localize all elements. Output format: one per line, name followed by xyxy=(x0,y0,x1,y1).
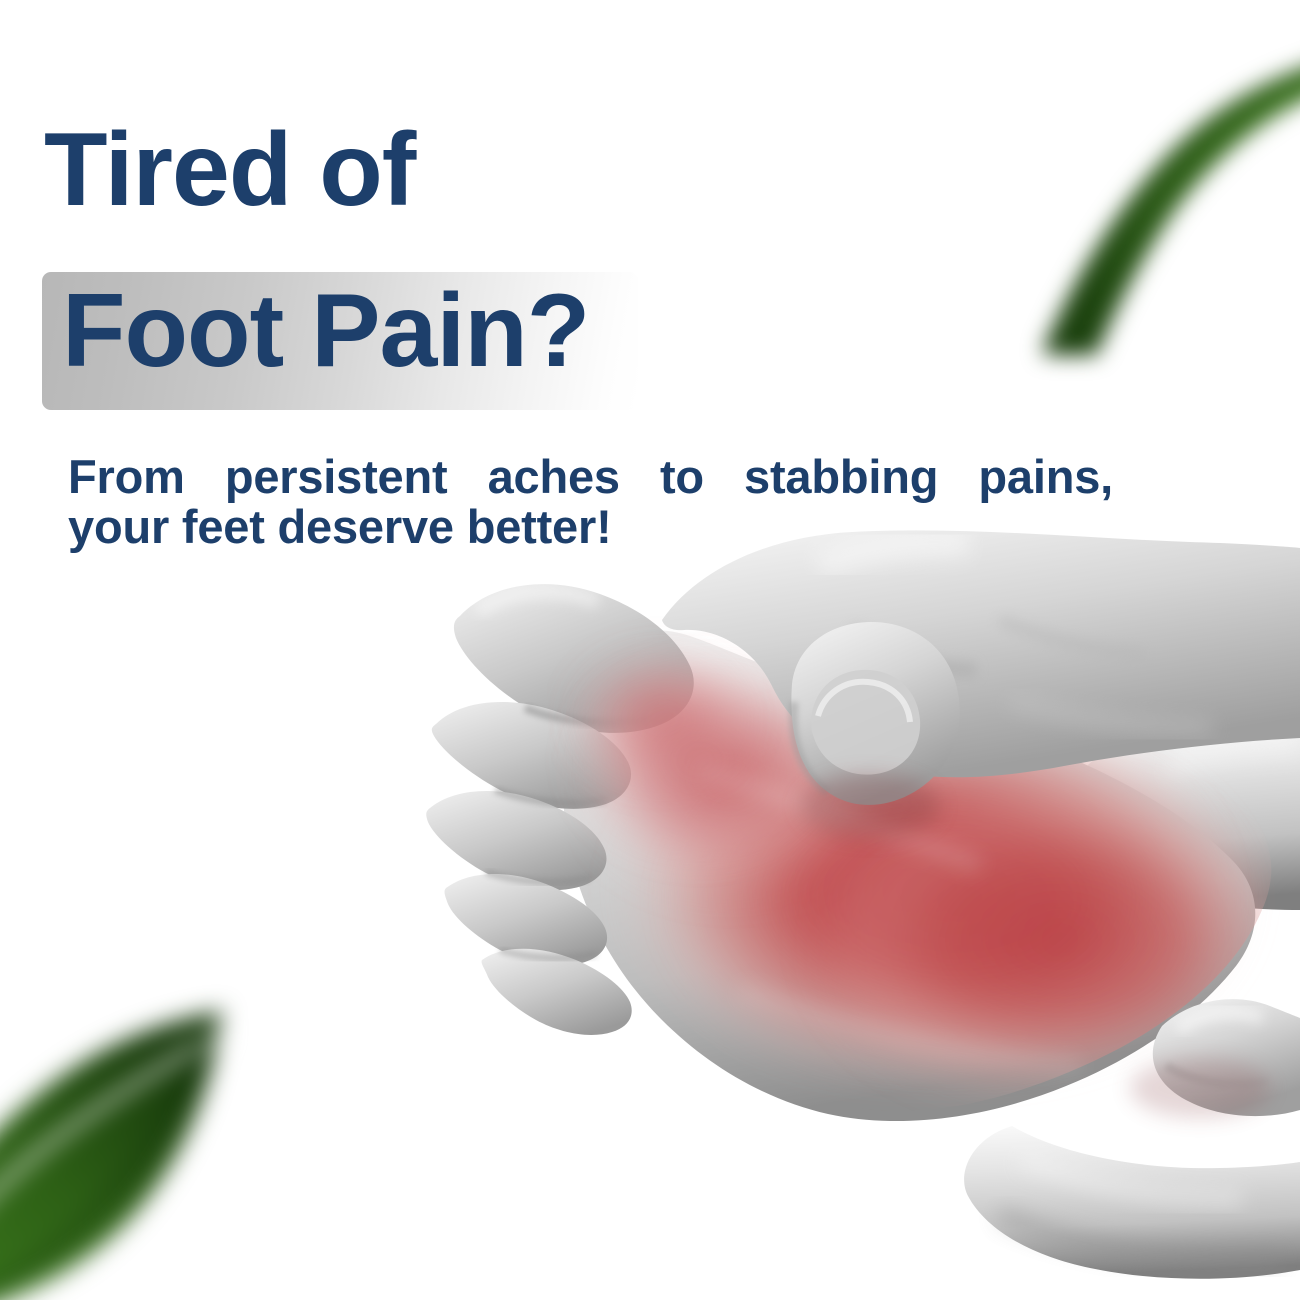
leaf-icon-top-right xyxy=(1030,35,1300,355)
page-title-line-2: Foot Pain? xyxy=(62,279,589,383)
poster-canvas: Tired of Foot Pain? From persistent ache… xyxy=(0,0,1300,1300)
page-title-line-1: Tired of xyxy=(44,118,415,222)
leaf-icon-bottom-left xyxy=(0,980,280,1300)
foot-pain-photo xyxy=(400,470,1300,1300)
title-highlight: Foot Pain? xyxy=(42,272,638,410)
